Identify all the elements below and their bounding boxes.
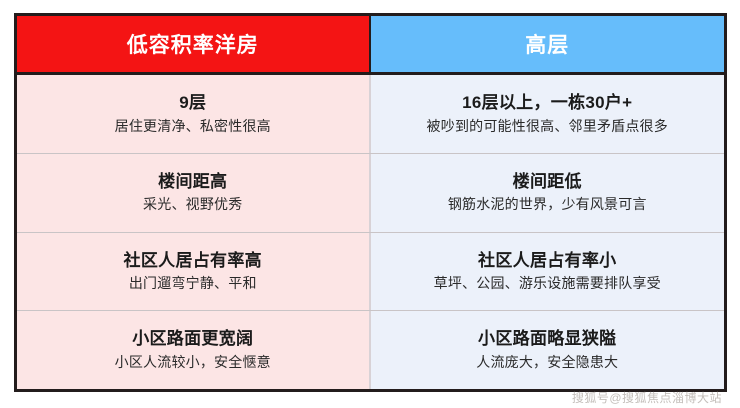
- table-cell-right: 16层以上，一栋30户+ 被吵到的可能性很高、邻里矛盾点很多: [371, 75, 725, 153]
- cell-subtitle: 采光、视野优秀: [143, 194, 242, 215]
- table-cell-left: 小区路面更宽阔 小区人流较小，安全惬意: [17, 311, 371, 389]
- cell-subtitle: 小区人流较小，安全惬意: [115, 352, 271, 373]
- cell-title: 16层以上，一栋30户+: [462, 91, 632, 116]
- table-cell-left: 9层 居住更清净、私密性很高: [17, 75, 371, 153]
- table-header-cell-right: 高层: [371, 16, 725, 72]
- table-header-label-right: 高层: [525, 29, 569, 59]
- table-body: 9层 居住更清净、私密性很高 16层以上，一栋30户+ 被吵到的可能性很高、邻里…: [17, 75, 724, 389]
- table-header-row: 低容积率洋房 高层: [17, 16, 724, 75]
- cell-subtitle: 钢筋水泥的世界，少有风景可言: [448, 194, 647, 215]
- table-cell-right: 楼间距低 钢筋水泥的世界，少有风景可言: [371, 154, 725, 232]
- cell-subtitle: 草坪、公园、游乐设施需要排队享受: [434, 273, 661, 294]
- table-row: 社区人居占有率高 出门遛弯宁静、平和 社区人居占有率小 草坪、公园、游乐设施需要…: [17, 233, 724, 312]
- table-cell-left: 楼间距高 采光、视野优秀: [17, 154, 371, 232]
- comparison-table: 低容积率洋房 高层 9层 居住更清净、私密性很高 16层以上，一栋30户+ 被吵…: [14, 13, 727, 392]
- cell-subtitle: 被吵到的可能性很高、邻里矛盾点很多: [427, 116, 668, 137]
- cell-subtitle: 人流庞大，安全隐患大: [476, 352, 618, 373]
- cell-title: 9层: [179, 91, 206, 116]
- cell-title: 小区路面更宽阔: [132, 327, 253, 352]
- cell-title: 社区人居占有率高: [124, 249, 262, 274]
- table-header-label-left: 低容积率洋房: [127, 29, 259, 59]
- table-row: 9层 居住更清净、私密性很高 16层以上，一栋30户+ 被吵到的可能性很高、邻里…: [17, 75, 724, 154]
- table-header-cell-left: 低容积率洋房: [17, 16, 371, 72]
- table-cell-right: 小区路面略显狭隘 人流庞大，安全隐患大: [371, 311, 725, 389]
- cell-title: 社区人居占有率小: [478, 249, 616, 274]
- cell-title: 楼间距低: [513, 170, 582, 195]
- cell-title: 小区路面略显狭隘: [478, 327, 616, 352]
- cell-title: 楼间距高: [158, 170, 227, 195]
- table-cell-left: 社区人居占有率高 出门遛弯宁静、平和: [17, 233, 371, 311]
- table-row: 小区路面更宽阔 小区人流较小，安全惬意 小区路面略显狭隘 人流庞大，安全隐患大: [17, 311, 724, 389]
- table-cell-right: 社区人居占有率小 草坪、公园、游乐设施需要排队享受: [371, 233, 725, 311]
- cell-subtitle: 出门遛弯宁静、平和: [129, 273, 257, 294]
- table-row: 楼间距高 采光、视野优秀 楼间距低 钢筋水泥的世界，少有风景可言: [17, 154, 724, 233]
- cell-subtitle: 居住更清净、私密性很高: [115, 116, 271, 137]
